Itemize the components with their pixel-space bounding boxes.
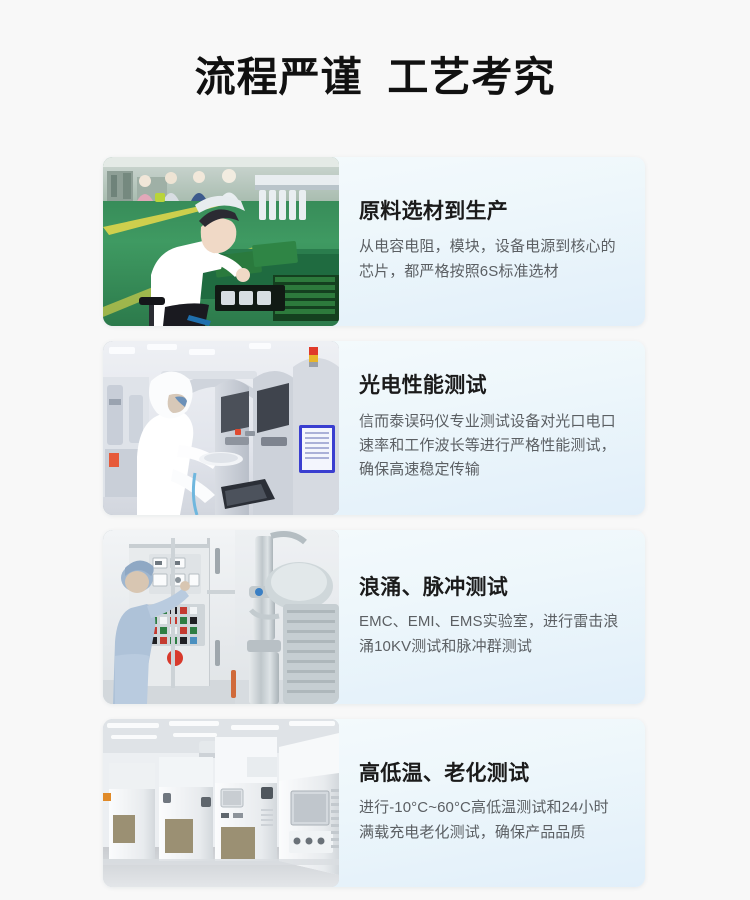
process-card-heading: 光电性能测试 [359,373,623,398]
process-card-list: 原料选材到生产 从电容电阻，模块，设备电源到核心的芯片，都严格按照6S标准选材 [103,157,645,887]
process-card-heading: 原料选材到生产 [359,199,623,224]
process-card[interactable]: 高低温、老化测试 进行-10°C~60°C高低温测试和24小时满载充电老化测试，… [103,719,645,887]
product-process-page: 流程严谨 工艺考究 [0,0,750,900]
process-card-description: 从电容电阻，模块，设备电源到核心的芯片，都严格按照6S标准选材 [359,235,623,284]
control-panel-surge-lab-photo [103,530,339,704]
cleanroom-optical-test-photo [103,341,339,515]
page-title: 流程严谨 工艺考究 [0,52,750,103]
pcb-assembly-line-worker-photo [103,157,339,326]
process-card-body: 高低温、老化测试 进行-10°C~60°C高低温测试和24小时满载充电老化测试，… [339,719,645,887]
process-card[interactable]: 光电性能测试 信而泰误码仪专业测试设备对光口电口速率和工作波长等进行严格性能测试… [103,341,645,515]
process-card-heading: 高低温、老化测试 [359,761,623,786]
process-card-heading: 浪涌、脉冲测试 [359,575,623,600]
process-card-body: 光电性能测试 信而泰误码仪专业测试设备对光口电口速率和工作波长等进行严格性能测试… [339,341,645,515]
aging-test-chambers-photo [103,719,339,887]
process-card[interactable]: 原料选材到生产 从电容电阻，模块，设备电源到核心的芯片，都严格按照6S标准选材 [103,157,645,326]
process-card-body: 原料选材到生产 从电容电阻，模块，设备电源到核心的芯片，都严格按照6S标准选材 [339,157,645,326]
process-card[interactable]: 浪涌、脉冲测试 EMC、EMI、EMS实验室，进行雷击浪涌10KV测试和脉冲群测… [103,530,645,704]
process-card-description: 信而泰误码仪专业测试设备对光口电口速率和工作波长等进行严格性能测试，确保高速稳定… [359,410,623,483]
process-card-body: 浪涌、脉冲测试 EMC、EMI、EMS实验室，进行雷击浪涌10KV测试和脉冲群测… [339,530,645,704]
process-card-description: 进行-10°C~60°C高低温测试和24小时满载充电老化测试，确保产品品质 [359,796,623,845]
process-card-description: EMC、EMI、EMS实验室，进行雷击浪涌10KV测试和脉冲群测试 [359,610,623,659]
